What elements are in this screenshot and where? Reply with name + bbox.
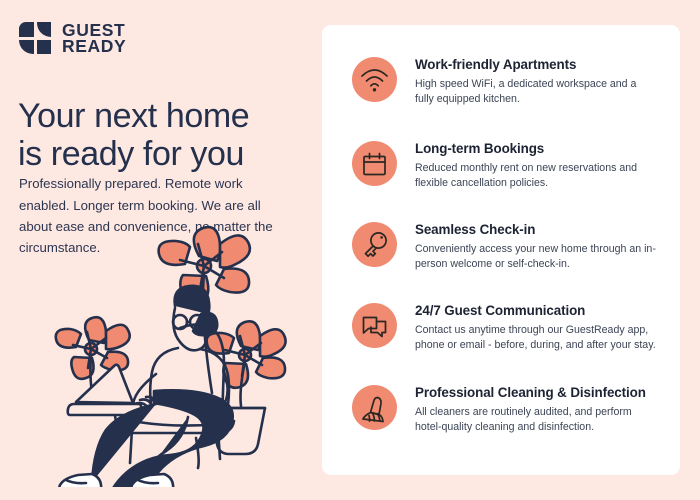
left-column: GUEST READY Your next home is ready for …	[0, 0, 322, 500]
feature-item: Work-friendly Apartments High speed WiFi…	[352, 57, 657, 107]
feature-item: 24/7 Guest Communication Contact us anyt…	[352, 303, 657, 353]
brand-name-line-2: READY	[62, 38, 126, 54]
feature-description: High speed WiFi, a dedicated workspace a…	[415, 77, 657, 107]
chat-bubbles-icon	[352, 303, 397, 348]
woman-working-on-laptop-in-armchair-with-plants-illustration	[28, 222, 318, 487]
guestready-quadrant-logo-icon	[19, 22, 51, 54]
feature-item: Seamless Check-in Conveniently access yo…	[352, 222, 657, 272]
feature-title: Professional Cleaning & Disinfection	[415, 385, 657, 401]
features-panel: Work-friendly Apartments High speed WiFi…	[322, 25, 680, 475]
feature-item: Long-term Bookings Reduced monthly rent …	[352, 141, 657, 191]
feature-description: Contact us anytime through our GuestRead…	[415, 323, 657, 353]
feature-title: Work-friendly Apartments	[415, 57, 657, 73]
headline-line-1: Your next home	[18, 97, 314, 135]
promotional-banner: GUEST READY Your next home is ready for …	[0, 0, 700, 500]
key-icon	[352, 222, 397, 267]
feature-description: Reduced monthly rent on new reservations…	[415, 161, 657, 191]
feature-description: All cleaners are routinely audited, and …	[415, 405, 657, 435]
feature-title: Seamless Check-in	[415, 222, 657, 238]
headline-line-2: is ready for you	[18, 135, 314, 173]
wifi-icon	[352, 57, 397, 102]
feature-item: Professional Cleaning & Disinfection All…	[352, 385, 657, 435]
feature-title: 24/7 Guest Communication	[415, 303, 657, 319]
brand-logo[interactable]: GUEST READY	[19, 22, 126, 55]
brand-wordmark: GUEST READY	[62, 22, 126, 55]
calendar-icon	[352, 141, 397, 186]
feature-description: Conveniently access your new home throug…	[415, 242, 657, 272]
feature-title: Long-term Bookings	[415, 141, 657, 157]
page-title: Your next home is ready for you	[18, 97, 314, 174]
broom-icon	[352, 385, 397, 430]
